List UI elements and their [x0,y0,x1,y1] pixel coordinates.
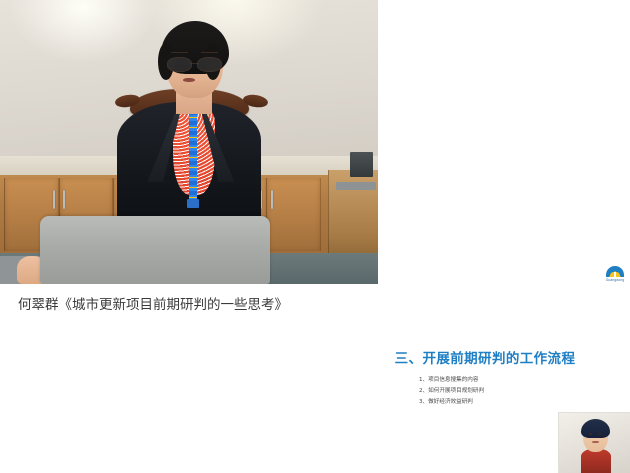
video-caption: 何翠群《城市更新项目前期研判的一些思考》 [18,296,288,314]
glasses-lens-right [197,57,222,71]
side-monitor [350,152,373,178]
list-item: 2、如何开展项目规划研判 [419,386,484,397]
glasses-lens-left [167,57,192,71]
speaker-eyebrow-right [201,52,218,53]
glasses-icon [167,57,221,69]
speaker-video[interactable] [0,0,378,284]
slide-title: 三、开展前期研判的工作流程 [367,347,603,367]
speaker-lanyard [189,111,197,205]
list-item: 3、做好经济效益研判 [419,397,484,408]
laptop [40,216,271,284]
speaker-eyebrow-left [171,52,188,53]
participant-thumbnail[interactable] [558,412,630,473]
side-keyboard [336,182,376,191]
logo-wordmark: Guangdong [600,278,630,282]
cabinet-door [266,178,321,251]
glasses-bridge [190,63,199,64]
organization-logo: Guangdong [600,266,630,284]
cabinet-handle [271,190,273,209]
dome-logo-icon [606,266,624,277]
badge-clip [187,199,198,208]
slide-bullet-list: 1、项目信息搜集的内容 2、如何开展项目规划研判 3、做好经济效益研判 [419,375,484,408]
cabinet-handle [63,190,65,209]
pip-person-body [581,449,611,473]
cabinet-handle [53,190,55,209]
list-item: 1、项目信息搜集的内容 [419,375,484,386]
pip-person-hair [581,419,610,438]
presentation-stage: 何翠群《城市更新项目前期研判的一些思考》 Guangdong 三、开展前期研判的… [0,0,630,472]
